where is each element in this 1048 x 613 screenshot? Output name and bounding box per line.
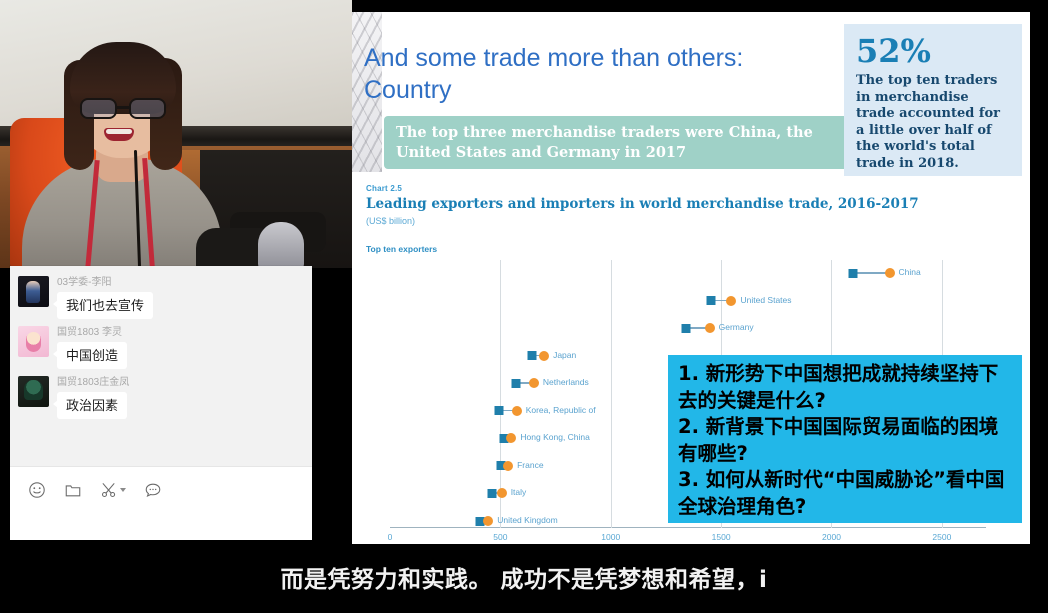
chart-x-tick-label: 0	[388, 532, 393, 542]
lens-left	[80, 98, 117, 119]
chat-sender-name: 国贸1803 李灵	[57, 326, 304, 339]
chart-marker-circle	[503, 461, 513, 471]
chart-point-label: Japan	[553, 350, 576, 360]
chat-bubble: 中国创造	[57, 342, 127, 369]
chart-x-tick-label: 1000	[601, 532, 620, 542]
chart-data-row: China	[390, 266, 986, 280]
chart-marker-circle	[539, 351, 549, 361]
avatar[interactable]	[18, 326, 49, 357]
chart-point-label: France	[517, 460, 543, 470]
chart-data-row: Germany	[390, 321, 986, 335]
chat-message[interactable]: 03学委-李阳 我们也去宣传	[18, 276, 304, 319]
chart-number: Chart 2.5	[366, 184, 926, 193]
chart-marker-square	[707, 296, 716, 305]
stat-description: The top ten traders in merchandise trade…	[856, 73, 1010, 172]
chart-marker-circle	[726, 296, 736, 306]
chat-bubble: 我们也去宣传	[57, 292, 153, 319]
avatar[interactable]	[18, 376, 49, 407]
chat-message-body: 03学委-李阳 我们也去宣传	[57, 276, 304, 319]
question-overlay-box: 1. 新形势下中国想把成就持续坚持下去的关键是什么?2. 新背景下中国国际贸易面…	[668, 355, 1022, 523]
chart-marker-circle	[497, 488, 507, 498]
chart-marker-square	[681, 324, 690, 333]
question-line: 3. 如何从新时代“中国威胁论”看中国全球治理角色?	[678, 467, 1014, 520]
chart-marker-circle	[506, 433, 516, 443]
chart-marker-square	[528, 351, 537, 360]
glasses-icon	[80, 98, 166, 120]
chart-point-label: Korea, Republic of	[526, 405, 596, 415]
chat-toolbar-icons	[10, 467, 312, 499]
chat-message-list[interactable]: 03学委-李阳 我们也去宣传 国贸1803 李灵 中国创造 国贸1803庄金凤 …	[10, 266, 312, 466]
scissors-icon[interactable]	[100, 481, 118, 499]
question-line: 1. 新形势下中国想把成就持续坚持下去的关键是什么?	[678, 361, 1014, 414]
stat-callout-card: 52% The top ten traders in merchandise t…	[844, 24, 1022, 176]
microphone	[258, 222, 304, 268]
chat-bubble: 政治因素	[57, 392, 127, 419]
emoji-icon[interactable]	[28, 481, 46, 499]
chat-message[interactable]: 国贸1803 李灵 中国创造	[18, 326, 304, 369]
chart-x-tick-label: 500	[493, 532, 507, 542]
chart-header: Chart 2.5 Leading exporters and importer…	[366, 184, 926, 226]
chart-marker-circle	[512, 406, 522, 416]
chart-marker-square	[849, 269, 858, 278]
chart-x-tick-label: 2000	[822, 532, 841, 542]
screenshot-control[interactable]	[100, 481, 126, 499]
chart-units: (US$ billion)	[366, 216, 926, 226]
chevron-down-icon[interactable]	[120, 488, 126, 492]
chart-point-label: United Kingdom	[497, 515, 557, 525]
avatar[interactable]	[18, 276, 49, 307]
chart-point-label: Germany	[719, 322, 754, 332]
chat-sender-name: 03学委-李阳	[57, 276, 304, 289]
chat-message-body: 国贸1803 李灵 中国创造	[57, 326, 304, 369]
chat-toolbar	[10, 466, 312, 540]
chat-bubble-icon[interactable]	[144, 481, 162, 499]
chart-marker-circle	[483, 516, 493, 526]
chart-point-label: China	[899, 267, 921, 277]
chat-sender-name: 国贸1803庄金凤	[57, 376, 304, 389]
video-subtitle: 而是凭努力和实践。 成功不是凭梦想和希望，i	[0, 560, 1048, 594]
chart-point-label: Netherlands	[543, 377, 589, 387]
chart-title: Leading exporters and importers in world…	[366, 196, 926, 213]
chart-marker-circle	[529, 378, 539, 388]
stat-number: 52%	[856, 34, 1010, 68]
question-line: 2. 新背景下中国国际贸易面临的困境有哪些?	[678, 414, 1014, 467]
chart-marker-square	[487, 489, 496, 498]
teeth	[106, 129, 132, 134]
chart-subtitle: Top ten exporters	[366, 244, 437, 254]
chart-marker-square	[511, 379, 520, 388]
presentation-slide[interactable]: And some trade more than others: Country…	[352, 12, 1030, 544]
folder-icon[interactable]	[64, 481, 82, 499]
chart-marker-circle	[705, 323, 715, 333]
chart-marker-square	[495, 406, 504, 415]
screen-root: 03学委-李阳 我们也去宣传 国贸1803 李灵 中国创造 国贸1803庄金凤 …	[0, 0, 1048, 613]
chat-message[interactable]: 国贸1803庄金凤 政治因素	[18, 376, 304, 419]
chart-x-tick-label: 1500	[712, 532, 731, 542]
chart-point-label: United States	[740, 295, 791, 305]
presenter-mouth	[104, 128, 134, 141]
chart-point-label: Hong Kong, China	[520, 432, 589, 442]
chart-data-row: United States	[390, 294, 986, 308]
chat-message-body: 国贸1803庄金凤 政治因素	[57, 376, 304, 419]
lens-right	[129, 98, 166, 119]
chat-panel[interactable]: 03学委-李阳 我们也去宣传 国贸1803 李灵 中国创造 国贸1803庄金凤 …	[10, 266, 312, 540]
chart-marker-circle	[885, 268, 895, 278]
chart-point-label: Italy	[511, 487, 527, 497]
chart-x-tick-label: 2500	[932, 532, 951, 542]
glasses-bridge	[117, 106, 129, 109]
microphone-arm	[196, 228, 266, 268]
slide-title: And some trade more than others: Country	[364, 42, 784, 106]
presenter-video[interactable]	[0, 0, 352, 268]
slide-teal-banner: The top three merchandise traders were C…	[384, 116, 864, 169]
